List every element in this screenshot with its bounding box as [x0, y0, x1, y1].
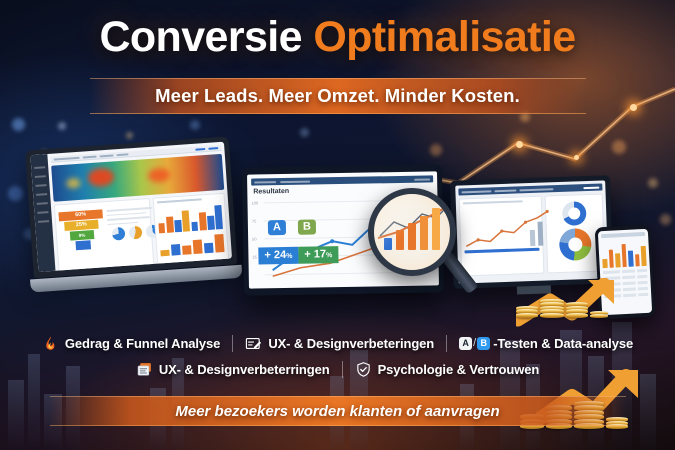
bar-panel	[152, 193, 229, 272]
badge-row-2: UX- & Designverbeterringen Psychologie &…	[124, 358, 551, 380]
donut-chart	[112, 227, 126, 241]
badge-row-1: Gedrag & Funnel Analyse UX- & Designverb…	[30, 332, 645, 354]
ribbon-text: Meer bezoekers worden klanten of aanvrag…	[175, 403, 499, 420]
tablet-topbar	[251, 175, 433, 185]
coin-stack	[566, 304, 588, 318]
phone-table-row	[603, 269, 647, 274]
bar-chart-secondary	[159, 232, 224, 256]
badge-label: UX- & Designverbeteringen	[268, 336, 434, 351]
flame-icon	[42, 335, 59, 352]
badge-label: Psychologie & Vertrouwen	[378, 362, 540, 377]
donut-chart	[129, 226, 143, 240]
subtitle-bar: Meer Leads. Meer Omzet. Minder Kosten.	[90, 78, 586, 114]
form-edit-icon	[245, 335, 262, 352]
line-chart	[463, 202, 540, 251]
laptop-panels: 60% 25% 9%	[54, 193, 230, 272]
magnifier-lens	[368, 188, 456, 276]
lens-glare	[374, 194, 450, 270]
page-title: Conversie Optimalisatie	[0, 16, 675, 59]
badge-label: -Testen & Data-analyse	[493, 336, 633, 351]
magnifying-glass-icon	[368, 188, 456, 276]
metric-row: + 24% + 17%	[258, 246, 338, 264]
laptop-screen: 60% 25% 9%	[30, 142, 232, 272]
coin-stack	[540, 300, 564, 318]
pie-chart	[559, 228, 592, 261]
phone-bar-chart	[601, 240, 646, 268]
bar-chart	[157, 203, 223, 233]
laptop-content: 60% 25% 9%	[47, 142, 232, 271]
donut-chart	[562, 201, 587, 226]
monitor-screen	[455, 180, 608, 283]
monitor-frame	[450, 175, 614, 289]
layered-cards-icon	[136, 361, 153, 378]
funnel-panel: 60% 25% 9%	[54, 198, 155, 272]
ab-test-icon: A / B	[459, 337, 490, 350]
monitor-chart-panel	[459, 196, 545, 277]
badge-gedrag-funnel-analyse[interactable]: Gedrag & Funnel Analyse	[30, 332, 232, 354]
coin-stack	[590, 313, 608, 318]
marketing-banner: Conversie Optimalisatie Meer Leads. Meer…	[0, 0, 675, 450]
feature-badges: Gedrag & Funnel Analyse UX- & Designverb…	[0, 332, 675, 380]
funnel-chart: 60% 25% 9%	[58, 209, 106, 272]
coin-stack	[516, 307, 538, 318]
metric-badge-secondary: + 17%	[298, 246, 338, 264]
badge-ux-designverbeteringen[interactable]: UX- & Designverbeteringen	[233, 332, 446, 354]
badge-label: Gedrag & Funnel Analyse	[65, 336, 220, 351]
badge-ux-designverbeterringen[interactable]: UX- & Designverbeterringen	[124, 358, 342, 380]
variant-a-tag: A	[459, 337, 472, 350]
title-part-accent: Optimalisatie	[313, 13, 575, 61]
phone-header	[601, 232, 645, 238]
badge-ab-testen-data-analyse[interactable]: A / B -Testen & Data-analyse	[447, 332, 645, 354]
bottom-ribbon: Meer bezoekers worden klanten of aanvrag…	[50, 396, 626, 426]
headline-block: Conversie Optimalisatie	[0, 16, 675, 59]
donut-group	[108, 225, 160, 242]
shield-check-icon	[355, 361, 372, 378]
badge-psychologie-vertrouwen[interactable]: Psychologie & Vertrouwen	[343, 358, 552, 380]
metric-badge-primary: + 24%	[258, 247, 298, 265]
funnel-segment: 9%	[70, 230, 95, 241]
variant-label-a: A	[268, 220, 286, 235]
ab-separator: /	[473, 337, 476, 349]
variant-b-tag: B	[477, 337, 490, 350]
subtitle-text: Meer Leads. Meer Omzet. Minder Kosten.	[155, 85, 520, 107]
laptop-device: 60% 25% 9%	[25, 136, 247, 300]
title-part-primary: Conversie	[99, 13, 302, 61]
monitor-content	[459, 194, 606, 277]
funnel-text-lines	[102, 202, 161, 272]
badge-label: UX- & Designverbeterringen	[159, 362, 330, 377]
funnel-segment	[75, 240, 91, 250]
coin-stack-group-upper	[516, 300, 608, 318]
laptop-lid: 60% 25% 9%	[25, 136, 237, 278]
variant-label-b: B	[298, 219, 316, 234]
